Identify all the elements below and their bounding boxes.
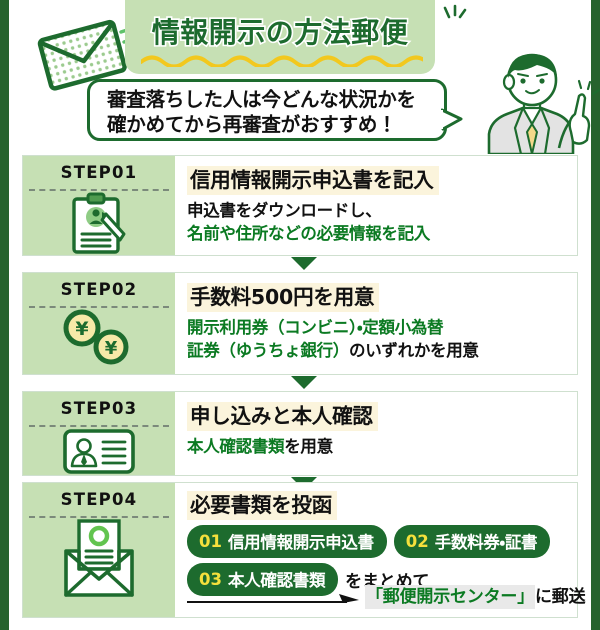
speech-bubble: 審査落ちした人は今どんな状況かを 確かめてから再審査がおすすめ！ — [87, 79, 447, 141]
detail-seg: 本人確認書類 — [187, 437, 284, 456]
page-title: 情報開示の方法郵便 — [125, 11, 435, 51]
step-detail-lines: 本人確認書類を用意 — [187, 435, 577, 458]
title-main: 情報開示の方法 — [152, 16, 352, 49]
step-row-3: STEP03 申し込みと本人確認 — [22, 391, 578, 476]
step-title: 申し込みと本人確認 — [187, 402, 378, 431]
step-connector-arrow — [291, 257, 317, 270]
long-right-arrow-icon — [187, 591, 359, 607]
step-label: STEP04 — [23, 490, 175, 509]
step-title: 手数料500円を用意 — [187, 283, 379, 312]
send-destination-highlight: 「郵便開示センター」 — [365, 585, 535, 609]
step-left-panel: STEP02 ¥ ¥ — [23, 273, 175, 374]
document-badges-row-1: 01 信用情報開示申込書 02 手数料券・証書 — [187, 525, 577, 558]
badge-number: 01 — [199, 532, 222, 551]
send-destination-text: 「郵便開示センター」に郵送 — [365, 582, 585, 607]
sparkle-icon — [441, 3, 467, 27]
step-detail-line: 開示利用券（コンビニ）・定額小為替 — [187, 316, 577, 339]
step-detail-lines: 開示利用券（コンビニ）・定額小為替 証券（ゆうちょ銀行）のいずれかを用意 — [187, 316, 577, 362]
step-detail-line: 申込書をダウンロードし、 — [187, 199, 577, 222]
step-connector-arrow — [291, 376, 317, 389]
step-title: 必要書類を投函 — [187, 491, 337, 520]
step-detail-line: 証券（ゆうちょ銀行）のいずれかを用意 — [187, 339, 577, 362]
infographic-page: 情報開示の方法郵便 審査落ちした人は今どんな状況かを 確かめてから再審査がおすす… — [0, 0, 600, 630]
step-divider — [29, 425, 169, 427]
step-row-1: STEP01 — [22, 155, 578, 256]
badge-number: 02 — [406, 532, 429, 551]
document-badge: 02 手数料券・証書 — [394, 525, 550, 558]
badge-label: 手数料券・証書 — [435, 529, 538, 553]
title-wave-underline — [141, 52, 423, 66]
step-body: 申し込みと本人確認 本人確認書類を用意 — [175, 392, 577, 475]
clipboard-form-pen-icon — [23, 192, 175, 254]
id-card-icon — [23, 428, 175, 474]
step-title: 信用情報開示申込書を記入 — [187, 166, 439, 195]
left-rail — [0, 0, 9, 630]
step-detail-line: 名前や住所などの必要情報を記入 — [187, 222, 577, 245]
step-body: 必要書類を投函 01 信用情報開示申込書 02 手数料券・証書 03 本人確認書… — [175, 483, 577, 617]
businessman-pointing-icon — [471, 48, 600, 154]
detail-seg: 証券（ゆうちょ銀行） — [187, 341, 349, 360]
detail-seg: を用意 — [284, 437, 333, 456]
step-body: 信用情報開示申込書を記入 申込書をダウンロードし、 名前や住所などの必要情報を記… — [175, 156, 577, 255]
svg-text:¥: ¥ — [105, 338, 118, 359]
step-divider — [29, 516, 169, 518]
step-detail-lines: 申込書をダウンロードし、 名前や住所などの必要情報を記入 — [187, 199, 577, 245]
step-left-panel: STEP01 — [23, 156, 175, 255]
document-badge: 01 信用情報開示申込書 — [187, 525, 387, 558]
step-left-panel: STEP04 — [23, 483, 175, 617]
yen-coins-icon: ¥ ¥ — [23, 309, 175, 367]
send-destination-row: 「郵便開示センター」に郵送 — [187, 582, 577, 610]
detail-seg: 開示利用券（コンビニ）・定額小為替 — [187, 318, 443, 337]
svg-text:¥: ¥ — [75, 318, 88, 340]
speech-bubble-tail — [441, 108, 465, 132]
badge-label: 信用情報開示申込書 — [228, 529, 374, 553]
title-sub: 郵便 — [351, 16, 408, 49]
step-left-panel: STEP03 — [23, 392, 175, 475]
step-body: 手数料500円を用意 開示利用券（コンビニ）・定額小為替 証券（ゆうちょ銀行）の… — [175, 273, 577, 374]
detail-seg: 名前や住所などの必要情報を記入 — [187, 224, 430, 243]
header: 情報開示の方法郵便 審査落ちした人は今どんな状況かを 確かめてから再審査がおすす… — [9, 0, 591, 152]
speech-bubble-text: 審査落ちした人は今どんな状況かを 確かめてから再審査がおすすめ！ — [107, 88, 437, 137]
step-label: STEP02 — [23, 280, 175, 299]
step-row-2: STEP02 ¥ ¥ 手数料500円を用意 開示利用券（コンビニ）・定額小為替 … — [22, 272, 578, 375]
step-label: STEP01 — [23, 163, 175, 182]
send-destination-suffix: に郵送 — [535, 587, 585, 607]
step-divider — [29, 306, 169, 308]
step-label: STEP03 — [23, 399, 175, 418]
step-detail-line: 本人確認書類を用意 — [187, 435, 577, 458]
step-row-4: STEP04 必要書類を投函 — [22, 482, 578, 618]
step-divider — [29, 189, 169, 191]
detail-seg: のいずれかを用意 — [349, 341, 479, 360]
detail-seg: 申込書をダウンロードし、 — [187, 201, 381, 220]
open-envelope-document-icon — [23, 519, 175, 599]
